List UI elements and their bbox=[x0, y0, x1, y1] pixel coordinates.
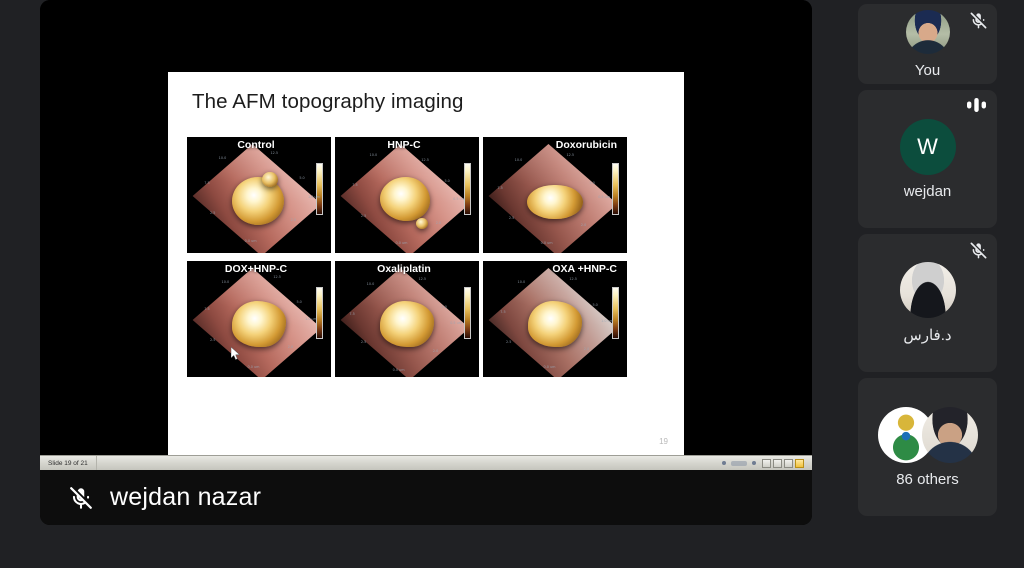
meeting-window: The AFM topography imaging Control 10.01… bbox=[0, 0, 1024, 568]
afm-height-colorbar bbox=[316, 287, 323, 339]
participant-tile-wejdan[interactable]: W wejdan bbox=[858, 90, 997, 228]
afm-feature-blob-secondary bbox=[416, 218, 428, 229]
mouse-cursor-icon bbox=[231, 347, 241, 361]
reading-view-button[interactable] bbox=[784, 459, 793, 468]
afm-height-colorbar bbox=[464, 163, 471, 215]
afm-feature-blob bbox=[380, 177, 430, 221]
participant-tile-dr-fares[interactable]: د.فارس bbox=[858, 234, 997, 372]
afm-feature-blob bbox=[528, 301, 582, 347]
zoom-slider[interactable] bbox=[731, 461, 747, 466]
afm-panel-hnp-c[interactable]: HNP-C 10.012.5 7.55.0 2.52.0 0.0 um0.5 u… bbox=[334, 136, 480, 254]
presenter-name-bar: wejdan nazar bbox=[40, 470, 812, 525]
avatar-stack bbox=[878, 407, 978, 463]
zoom-in-icon[interactable] bbox=[752, 461, 756, 465]
slide-canvas[interactable]: The AFM topography imaging Control 10.01… bbox=[168, 72, 684, 456]
avatar bbox=[900, 262, 956, 318]
participant-tile-you[interactable]: You bbox=[858, 4, 997, 84]
zoom-controls[interactable] bbox=[722, 461, 762, 466]
slide-title: The AFM topography imaging bbox=[192, 90, 464, 114]
fit-slide-to-window-button[interactable] bbox=[795, 459, 804, 468]
presenter-name: wejdan nazar bbox=[110, 483, 261, 512]
afm-feature-blob bbox=[527, 185, 583, 219]
mic-off-icon bbox=[969, 241, 988, 260]
participant-tile-others[interactable]: 86 others bbox=[858, 378, 997, 516]
normal-view-button[interactable] bbox=[762, 459, 771, 468]
avatar bbox=[906, 10, 950, 54]
powerpoint-window[interactable]: The AFM topography imaging Control 10.01… bbox=[40, 0, 812, 470]
participant-name: د.فارس bbox=[903, 326, 951, 344]
participant-name: wejdan bbox=[904, 183, 952, 200]
view-buttons[interactable] bbox=[762, 459, 812, 468]
shared-screen-stage[interactable]: The AFM topography imaging Control 10.01… bbox=[40, 0, 812, 525]
afm-panel-label: Oxaliplatin bbox=[335, 263, 473, 275]
afm-panel-oxaliplatin[interactable]: Oxaliplatin 10.012.5 7.55.0 2.52.0 0.0 u… bbox=[334, 260, 480, 378]
afm-height-colorbar bbox=[316, 163, 323, 215]
afm-panel-control[interactable]: Control 10.012.5 7.55.0 2.52.0 0.0 um1.0… bbox=[186, 136, 332, 254]
afm-panel-doxorubicin[interactable]: Doxorubicin 10.012.5 7.55.0 2.52.0 0.0 u… bbox=[482, 136, 628, 254]
afm-feature-blob bbox=[380, 301, 434, 347]
speaking-bars-icon bbox=[966, 97, 988, 113]
afm-height-colorbar bbox=[464, 287, 471, 339]
afm-panel-label: HNP-C bbox=[335, 139, 473, 151]
afm-panel-dox-hnp-c[interactable]: DOX+HNP-C 10.012.5 7.55.0 2.52.0 0.0 um1… bbox=[186, 260, 332, 378]
participant-rail: You W wejdan bbox=[854, 0, 1024, 568]
mic-off-icon bbox=[68, 483, 94, 513]
slide-page-number: 19 bbox=[659, 437, 668, 446]
afm-height-colorbar bbox=[612, 163, 619, 215]
afm-panel-label: Doxorubicin bbox=[483, 139, 621, 151]
mic-off-icon bbox=[969, 11, 988, 30]
afm-panel-label: OXA +HNP-C bbox=[483, 263, 621, 275]
afm-feature-blob-secondary bbox=[262, 172, 278, 187]
afm-panel-grid: Control 10.012.5 7.55.0 2.52.0 0.0 um1.0… bbox=[186, 136, 646, 380]
zoom-out-icon[interactable] bbox=[722, 461, 726, 465]
avatar bbox=[922, 407, 978, 463]
slide-sorter-view-button[interactable] bbox=[773, 459, 782, 468]
slide-counter: Slide 19 of 21 bbox=[40, 456, 97, 470]
participant-name: You bbox=[915, 62, 940, 79]
others-count-label: 86 others bbox=[896, 471, 959, 488]
afm-panel-label: DOX+HNP-C bbox=[187, 263, 325, 275]
afm-height-colorbar bbox=[612, 287, 619, 339]
afm-panel-oxa-hnp-c[interactable]: OXA +HNP-C 10.012.5 7.55.0 2.52.0 0.0 um… bbox=[482, 260, 628, 378]
avatar-initial: W bbox=[900, 119, 956, 175]
afm-feature-blob bbox=[232, 301, 286, 347]
afm-panel-label: Control bbox=[187, 139, 325, 151]
powerpoint-status-bar: Slide 19 of 21 bbox=[40, 455, 812, 470]
